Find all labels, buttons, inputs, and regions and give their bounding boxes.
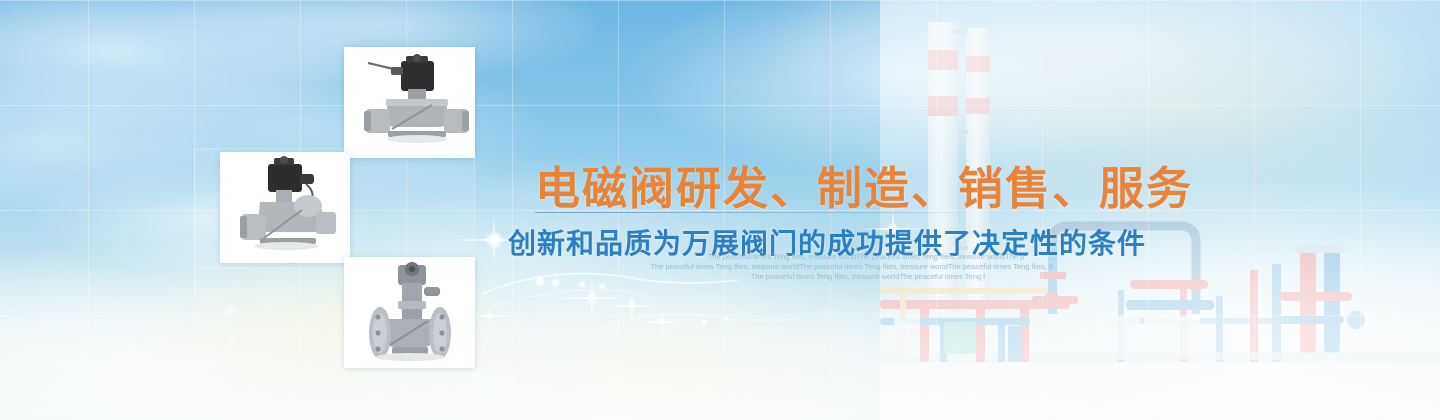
paragraph-line: The peaceful times Teng flies, treasure … [642,252,1090,262]
headline-divider [535,212,967,213]
banner-text-block: 电磁阀研发、制造、销售、服务 创新和品质为万展阀门的成功提供了决定性的条件 Th… [0,0,1440,420]
hero-banner: 电磁阀研发、制造、销售、服务 创新和品质为万展阀门的成功提供了决定性的条件 Th… [0,0,1440,420]
banner-paragraph: The peaceful times Teng flies, treasure … [620,252,1090,282]
paragraph-line: The peaceful times Teng flies, treasure … [614,262,1090,272]
paragraph-line: The peaceful times Teng flies, treasure … [646,272,1090,282]
banner-headline: 电磁阀研发、制造、销售、服务 [535,152,1193,217]
